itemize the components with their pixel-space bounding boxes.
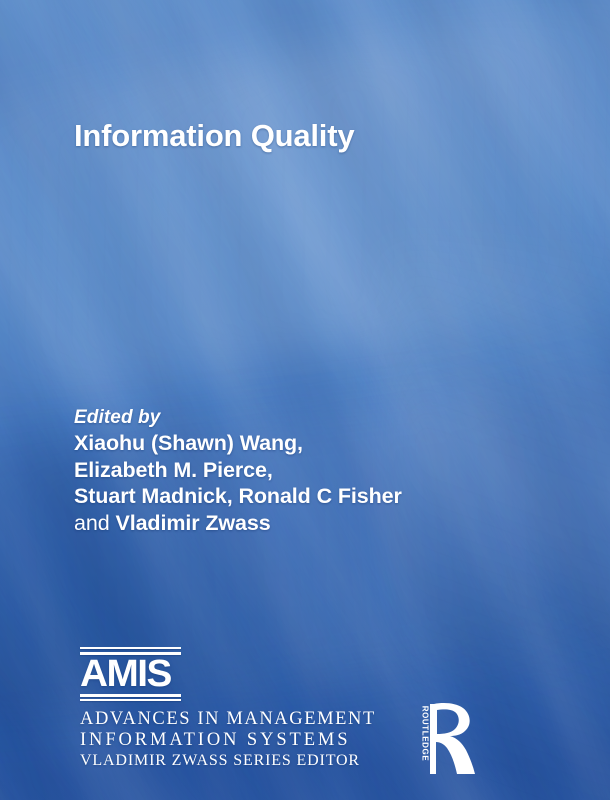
book-cover: Information Quality Edited by Xiaohu (Sh… [0,0,610,800]
routledge-wordmark: ROUTLEDGE [421,703,430,765]
book-title: Information Quality [74,118,354,154]
edited-by-label: Edited by [74,405,402,430]
editor-name-line-2: Elizabeth M. Pierce, [74,457,402,484]
editor-conjunction: and [74,511,115,535]
cover-content: Information Quality Edited by Xiaohu (Sh… [0,0,610,800]
series-title-line-2: INFORMATION SYSTEMS [80,730,376,751]
editors-block: Edited by Xiaohu (Shawn) Wang, Elizabeth… [74,405,402,536]
routledge-logo: ROUTLEDGE [408,700,486,778]
routledge-r-icon [430,702,476,776]
series-title-line-1: ADVANCES IN MANAGEMENT [80,709,376,730]
amis-logo-text: AMIS [80,655,183,694]
series-editor-line: VLADIMIR ZWASS SERIES EDITOR [80,751,376,771]
amis-rule-bottom-outer [80,699,181,701]
editor-name-line-1: Xiaohu (Shawn) Wang, [74,430,402,457]
editor-name-last: Vladimir Zwass [115,511,270,535]
editor-name-line-3: Stuart Madnick, Ronald C Fisher [74,483,402,510]
editor-name-line-4: and Vladimir Zwass [74,510,402,537]
series-block: ADVANCES IN MANAGEMENT INFORMATION SYSTE… [80,709,376,771]
amis-logo: AMIS [80,647,181,701]
